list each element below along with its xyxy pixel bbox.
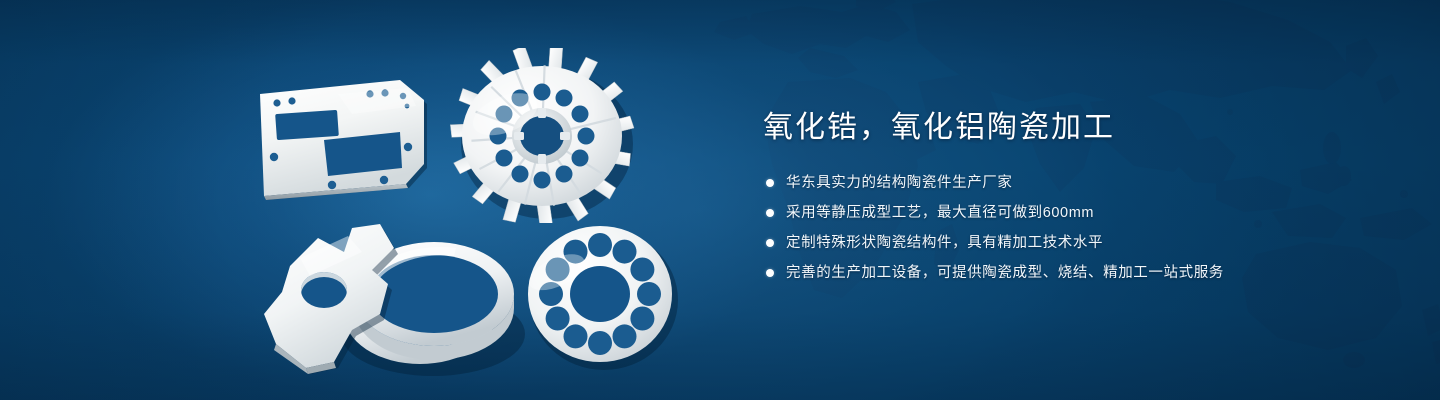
- product-image-ceramic-impeller: [442, 48, 642, 223]
- product-showcase: [0, 0, 740, 400]
- bullet-dot-icon: [766, 209, 774, 217]
- product-image-ceramic-cross-and-rings: [248, 222, 538, 377]
- bullet-dot-icon: [766, 179, 774, 187]
- promo-banner: 氧化锆，氧化铝陶瓷加工 华东具实力的结构陶瓷件生产厂家 采用等静压成型工艺，最大…: [0, 0, 1440, 400]
- banner-feature-list: 华东具实力的结构陶瓷件生产厂家 采用等静压成型工艺，最大直径可做到600mm 定…: [763, 172, 1383, 284]
- feature-item-4-text: 完善的生产加工设备，可提供陶瓷成型、烧结、精加工一站式服务: [786, 265, 1224, 281]
- product-image-ceramic-plate: [248, 72, 448, 202]
- feature-item-1: 华东具实力的结构陶瓷件生产厂家: [763, 172, 1383, 194]
- feature-item-2: 采用等静压成型工艺，最大直径可做到600mm: [763, 202, 1383, 224]
- product-image-ceramic-flange-disc: [514, 218, 689, 373]
- bullet-dot-icon: [766, 269, 774, 277]
- banner-headline: 氧化锆，氧化铝陶瓷加工: [763, 108, 1383, 148]
- feature-item-3: 定制特殊形状陶瓷结构件，具有精加工技术水平: [763, 232, 1383, 254]
- feature-item-2-text: 采用等静压成型工艺，最大直径可做到600mm: [786, 205, 1094, 221]
- feature-item-1-text: 华东具实力的结构陶瓷件生产厂家: [786, 175, 1013, 191]
- feature-item-4: 完善的生产加工设备，可提供陶瓷成型、烧结、精加工一站式服务: [763, 262, 1383, 284]
- banner-copy: 氧化锆，氧化铝陶瓷加工 华东具实力的结构陶瓷件生产厂家 采用等静压成型工艺，最大…: [763, 108, 1383, 284]
- feature-item-3-text: 定制特殊形状陶瓷结构件，具有精加工技术水平: [786, 235, 1103, 251]
- bullet-dot-icon: [766, 239, 774, 247]
